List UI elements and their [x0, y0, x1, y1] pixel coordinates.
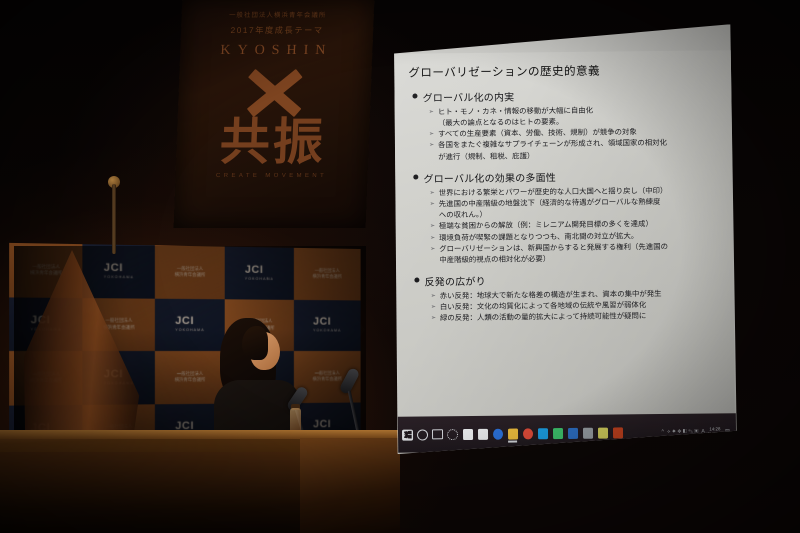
- skype-icon[interactable]: [537, 428, 548, 439]
- slide-sub-bullet-text: 先進国の中産階級の地盤沈下（経済的な待遇がグローバルな熟練度: [439, 197, 661, 209]
- sub-bullet-arrow-icon: ➢: [430, 189, 435, 197]
- slide-sub-bullet-text: 極端な貧困からの解放（例：ミレニアム開発目標の多くを達成）: [439, 219, 653, 231]
- cortana-search-icon[interactable]: [417, 429, 428, 440]
- backdrop-panel: JCIYOKOHAMA: [225, 247, 294, 300]
- action-center-icon[interactable]: ▤: [725, 428, 730, 434]
- sub-bullet-arrow-icon: ➢: [431, 292, 436, 300]
- slide-sub-bullet-text: 赤い反発：地球大で新たな格差の構造が生まれ、資本の集中が発生: [440, 289, 662, 301]
- jci-logo: JCIYOKOHAMA: [175, 316, 205, 333]
- slide-group-heading: グローバル化の内実: [413, 86, 721, 104]
- backdrop-org-text: 一般社団法人横浜青年会議所: [175, 371, 206, 384]
- presentation-slide: グローバリゼーションの歴史的意義 グローバル化の内実➢ヒト・モノ・カネ・情報の移…: [394, 50, 735, 432]
- slide-sub-bullet-text: 世界における繁栄とパワーが歴史的な人口大国へと揺り戻し（中印）: [439, 185, 668, 197]
- start-button[interactable]: [402, 429, 413, 440]
- powerpoint-icon[interactable]: [612, 427, 623, 438]
- bullet-dot-icon: [415, 277, 420, 282]
- jci-logo: JCIYOKOHAMA: [313, 317, 341, 333]
- slide-sub-bullet-continuation: が進行（規制、租税、庇護）: [438, 149, 721, 162]
- sub-bullet-arrow-icon: ➢: [431, 315, 436, 323]
- sub-bullet-arrow-icon: ➢: [429, 142, 434, 150]
- slide-body: グローバル化の内実➢ヒト・モノ・カネ・情報の移動が大幅に自由化（最大の論点となる…: [407, 86, 724, 324]
- jci-logo: JCIYOKOHAMA: [245, 265, 274, 282]
- slide-sub-bullet-text: 各国をまたぐ複雑なサプライチェーンが形成され、領域国家の相対化: [438, 138, 667, 150]
- edge-icon[interactable]: [492, 428, 503, 439]
- settings-gear-icon[interactable]: [447, 429, 458, 440]
- slide-sub-bullet-text: グローバリゼーションは、新興国からすると発展する権利（先進国の: [439, 242, 668, 254]
- slide-group-heading-text: グローバル化の内実: [423, 88, 515, 104]
- backdrop-panel: 一般社団法人横浜青年会議所: [294, 248, 361, 300]
- outlook-icon[interactable]: [567, 427, 578, 438]
- chrome-icon[interactable]: [522, 428, 533, 439]
- slide-sub-bullet-text: 緑の反発：人類の活動の量的拡大によって持続可能性が疑問に: [440, 312, 646, 324]
- slide-group-heading: グローバル化の効果の多面性: [413, 167, 721, 185]
- system-tray[interactable]: ^ ⟡ ✦ ❖ ◧ ✎ ▣ A 14:28 2017/6/10 ▤: [661, 427, 732, 436]
- flag-pole: [112, 184, 116, 254]
- tray-chevron-icon[interactable]: ^: [661, 429, 664, 435]
- clock-date: 2017/6/10: [708, 432, 722, 436]
- screen-surface: グローバリゼーションの歴史的意義 グローバル化の内実➢ヒト・モノ・カネ・情報の移…: [390, 24, 738, 456]
- banner-subtitle: CREATE MOVEMENT: [216, 173, 327, 179]
- store-icon[interactable]: [462, 428, 473, 439]
- reader-icon[interactable]: [477, 428, 488, 439]
- backdrop-org-text: 一般社団法人横浜青年会議所: [313, 370, 342, 383]
- slide-group: グローバル化の効果の多面性➢世界における繁栄とパワーが歴史的な人口大国へと揺り戻…: [407, 167, 722, 266]
- slide-sub-bullet-continuation: 中産階級的視点の相対化が必要）: [439, 252, 722, 265]
- messenger-icon[interactable]: [552, 428, 563, 439]
- slide-group-heading-text: グローバル化の効果の多面性: [423, 169, 556, 185]
- banner-kyoshin-kanji: 共振: [219, 117, 327, 167]
- slide-group: グローバル化の内実➢ヒト・モノ・カネ・情報の移動が大幅に自由化（最大の論点となる…: [407, 86, 722, 162]
- stage-banner: 一般社団法人横浜青年会議所 2017年度成長テーマ KYOSHIN 共振 CRE…: [174, 0, 375, 228]
- backdrop-org-text: 一般社団法人横浜青年会議所: [175, 265, 206, 279]
- slide-group-heading-text: 反発の広がり: [424, 273, 485, 289]
- task-view-icon[interactable]: [432, 429, 443, 440]
- bullet-dot-icon: [413, 93, 418, 98]
- banner-organization: 一般社団法人横浜青年会議所: [229, 10, 327, 19]
- slide-sub-bullet-text: すべての生産要素（資本、労働、技術、規制）が競争の対象: [438, 127, 637, 139]
- ime-indicator-icon[interactable]: A: [701, 429, 705, 435]
- desk-side-panel: [300, 438, 400, 533]
- backdrop-org-text: 一般社団法人横浜青年会議所: [313, 267, 342, 280]
- taskbar-clock[interactable]: 14:28 2017/6/10: [708, 427, 722, 435]
- banner-kyoshin-roman: KYOSHIN: [220, 43, 333, 59]
- sub-bullet-arrow-icon: ➢: [429, 108, 434, 116]
- sub-bullet-arrow-icon: ➢: [431, 303, 436, 311]
- tray-icon-group[interactable]: ⟡ ✦ ❖ ◧ ✎ ▣: [667, 428, 699, 435]
- slide-group: 反発の広がり➢赤い反発：地球大で新たな格差の構造が生まれ、資本の集中が発生➢白い…: [408, 270, 723, 324]
- slide-sub-bullet: ➢緑の反発：人類の活動の量的拡大によって持続可能性が疑問に: [431, 311, 723, 324]
- windows-taskbar[interactable]: ^ ⟡ ✦ ❖ ◧ ✎ ▣ A 14:28 2017/6/10 ▤: [398, 413, 736, 453]
- slide-group-heading: 反発の広がり: [414, 270, 722, 288]
- speaker-hair-front: [242, 326, 268, 360]
- projection-screen: グローバリゼーションの歴史的意義 グローバル化の内実➢ヒト・モノ・カネ・情報の移…: [390, 24, 738, 456]
- slide-sub-bullet-text: 環境負荷が喫緊の課題となりつつも、南北間の対立が拡大。: [439, 231, 638, 243]
- word-icon[interactable]: [582, 427, 593, 438]
- photo-scene: 一般社団法人横浜青年会議所 2017年度成長テーマ KYOSHIN 共振 CRE…: [0, 0, 800, 533]
- banner-theme-year: 2017年度成長テーマ: [230, 24, 324, 36]
- sub-bullet-arrow-icon: ➢: [430, 234, 435, 242]
- sub-bullet-arrow-icon: ➢: [430, 245, 435, 253]
- slide-title: グローバリゼーションの歴史的意義: [408, 61, 720, 80]
- sub-bullet-arrow-icon: ➢: [430, 223, 435, 231]
- sub-bullet-arrow-icon: ➢: [430, 200, 435, 208]
- onenote-icon[interactable]: [597, 427, 608, 438]
- bullet-dot-icon: [413, 174, 418, 179]
- sub-bullet-arrow-icon: ➢: [429, 131, 434, 139]
- file-explorer-icon[interactable]: [507, 428, 518, 439]
- slide-sub-bullet-text: ヒト・モノ・カネ・情報の移動が大幅に自由化: [438, 105, 593, 116]
- backdrop-org-text: 一般社団法人横浜青年会議所: [30, 263, 62, 277]
- slide-sub-bullet-text: 白い反発：文化の均質化によって各地域の伝統や風習が弱体化: [440, 300, 646, 312]
- backdrop-panel: 一般社団法人横浜青年会議所: [155, 245, 225, 298]
